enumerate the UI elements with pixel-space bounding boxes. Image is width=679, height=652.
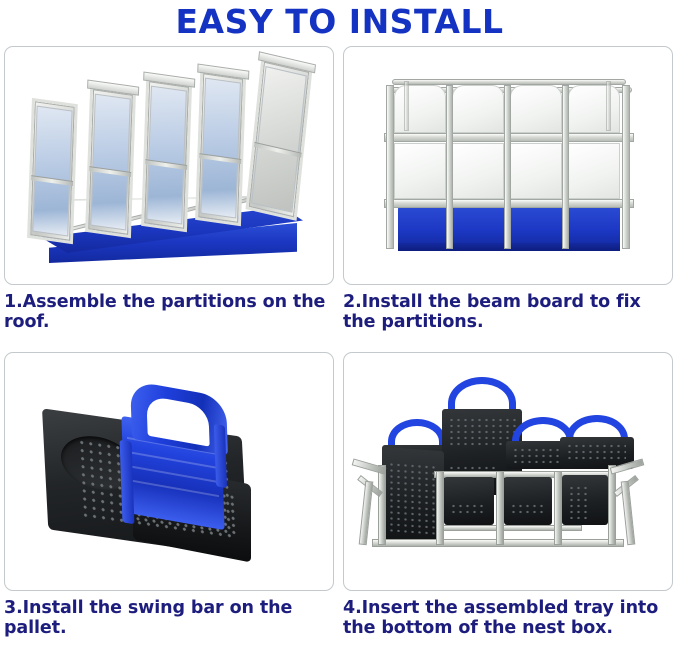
frame-post bbox=[554, 471, 562, 545]
step-1-caption: 1.Assemble the partitions on the roof. bbox=[4, 293, 330, 333]
step-card-1: 1.Assemble the partitions on the roof. bbox=[4, 46, 338, 333]
roof-panel bbox=[568, 85, 620, 133]
lower-tray-perforations bbox=[568, 485, 590, 519]
illustration-trays-inserted-in-nest-box bbox=[344, 353, 672, 590]
lower-tray-perforations bbox=[450, 503, 486, 515]
lower-tray bbox=[444, 477, 494, 525]
swing-bar-pivot-right bbox=[214, 424, 227, 488]
partition-panel-5 bbox=[245, 58, 312, 221]
frame-post bbox=[608, 465, 616, 545]
partition-post bbox=[446, 85, 453, 249]
steps-grid: 1.Assemble the partitions on the roof. bbox=[0, 46, 679, 652]
roof-panel bbox=[452, 85, 504, 133]
frame-post bbox=[378, 465, 386, 545]
partition-panel-4 bbox=[195, 70, 246, 226]
step-4-photo bbox=[343, 352, 673, 591]
step-1-photo bbox=[4, 46, 334, 285]
step-card-3: 3.Install the swing bar on the pallet. bbox=[4, 352, 338, 639]
roof-panel bbox=[394, 85, 446, 133]
step-4-caption: 4.Insert the assembled tray into the bot… bbox=[343, 599, 669, 639]
compartment-wall bbox=[452, 143, 504, 199]
partition-post bbox=[562, 85, 569, 249]
frame-post bbox=[436, 471, 444, 545]
illustration-beam-board-installed bbox=[344, 47, 672, 284]
step-card-2: 2.Install the beam board to fix the part… bbox=[343, 46, 677, 333]
tray-perforations bbox=[566, 443, 626, 461]
illustration-swing-bar-on-pallet bbox=[5, 353, 333, 590]
partition-panel-2 bbox=[85, 86, 136, 238]
step-card-4: 4.Insert the assembled tray into the bot… bbox=[343, 352, 677, 639]
frame-post bbox=[496, 471, 504, 545]
corner-post-right bbox=[622, 85, 630, 249]
depth-rail bbox=[404, 81, 409, 131]
compartment-wall bbox=[510, 143, 562, 199]
partition-post bbox=[504, 85, 511, 249]
page-title: EASY TO INSTALL bbox=[0, 0, 679, 44]
corner-post-left bbox=[386, 85, 394, 249]
depth-rail bbox=[606, 81, 611, 131]
lower-tray-perforations bbox=[510, 503, 544, 515]
frame-foot-left bbox=[359, 481, 374, 545]
tray-front-left-perforations bbox=[388, 461, 438, 534]
partition-panel-3 bbox=[141, 78, 192, 232]
compartment-wall bbox=[568, 143, 620, 199]
step-2-caption: 2.Install the beam board to fix the part… bbox=[343, 293, 669, 333]
frame-foot-right bbox=[621, 481, 636, 545]
step-3-caption: 3.Install the swing bar on the pallet. bbox=[4, 599, 330, 639]
illustration-partitions-on-roof bbox=[5, 47, 333, 284]
partition-panel-1 bbox=[27, 98, 78, 244]
step-3-photo bbox=[4, 352, 334, 591]
step-2-photo bbox=[343, 46, 673, 285]
lower-tray bbox=[504, 477, 552, 525]
roof-panel bbox=[510, 85, 562, 133]
compartment-wall bbox=[394, 143, 446, 199]
